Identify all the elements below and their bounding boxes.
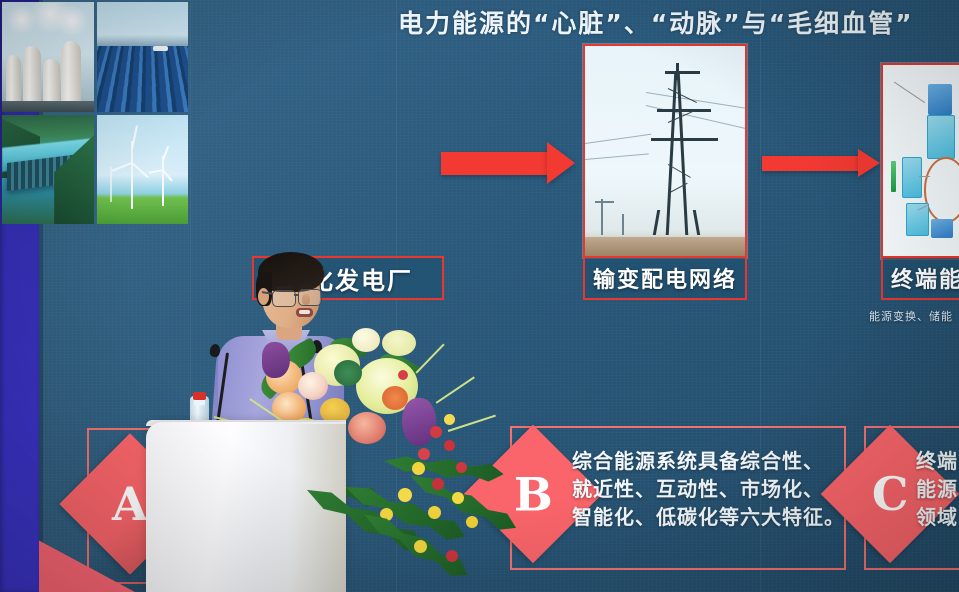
speaker-nose — [302, 294, 310, 305]
panel-b-line-1: 综合能源系统具备综合性、 — [572, 447, 824, 475]
yellow-orchid-bud — [398, 488, 412, 502]
rose-flower — [298, 372, 328, 400]
speaker-teeth — [299, 310, 310, 314]
panel-c-line-3: 领域 — [916, 503, 958, 531]
red-bud — [418, 448, 430, 460]
red-bud — [446, 550, 458, 562]
yellow-orchid-bud — [414, 540, 427, 553]
panel-c-line-1: 终端能 — [916, 447, 959, 475]
panel-b-letter: B — [514, 467, 553, 521]
purple-bloom — [402, 398, 436, 446]
dahlia-flower — [348, 412, 386, 444]
purple-bloom — [262, 342, 290, 378]
caption-terminal-label: 终端能 — [891, 262, 959, 294]
yellow-orchid-bud — [444, 414, 455, 425]
solar-farm-photo — [97, 2, 189, 112]
terminal-equipment-diagram — [881, 63, 959, 259]
transmission-tower-photo — [583, 44, 747, 258]
yellow-orchid-bud — [412, 462, 425, 475]
panel-b-line-2: 就近性、互动性、市场化、 — [572, 475, 824, 503]
rose-flower — [382, 330, 416, 356]
panel-c-letter: C — [872, 467, 909, 521]
yellow-orchid-bud — [466, 516, 478, 528]
caption-terminal-subtitle: 能源变换、储能 — [869, 308, 959, 324]
slide-headline: 电力能源的“心脏”、“动脉”与“毛细血管” — [398, 4, 918, 38]
screenshot-root: 电力能源的“心脏”、“动脉”与“毛细血管” — [0, 0, 959, 592]
red-bud — [444, 440, 455, 451]
red-bud — [432, 478, 444, 490]
caption-terminal: 终端能 — [881, 256, 959, 300]
hydropower-dam-photo — [2, 115, 94, 225]
rose-flower — [352, 328, 380, 352]
eyeglasses-bridge — [294, 294, 299, 296]
red-bud — [430, 426, 442, 438]
orange-bloom — [382, 386, 408, 410]
caption-transmission: 输变配电网络 — [583, 256, 747, 300]
thermal-power-plant-photo — [2, 2, 94, 112]
green-bloom — [334, 360, 362, 386]
yellow-orchid-bud — [428, 506, 441, 519]
panel-c-line-2: 能源 — [916, 475, 958, 503]
eyeglasses-lens-left — [272, 290, 296, 307]
wind-farm-photo — [97, 115, 189, 225]
red-bud — [456, 462, 467, 473]
caption-transmission-label: 输变配电网络 — [593, 262, 737, 294]
yellow-orchid-bud — [452, 492, 464, 504]
panel-b-line-3: 智能化、低碳化等六大特征。 — [572, 503, 845, 531]
red-bud — [398, 370, 408, 380]
water-bottle-cap — [193, 392, 206, 400]
